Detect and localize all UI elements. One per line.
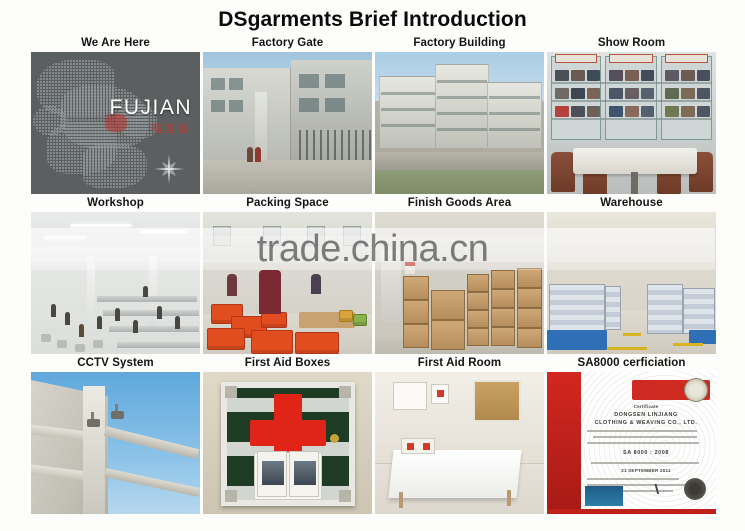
packing-crate — [339, 310, 353, 322]
certificate-standard: SA 8000 : 2008 — [587, 450, 705, 456]
merchandise — [555, 70, 569, 81]
red-cross-icon — [437, 390, 444, 397]
window — [229, 78, 243, 90]
certificate-heading: Certificate — [587, 404, 705, 409]
support-column — [381, 250, 401, 322]
window — [299, 74, 319, 88]
window-band — [489, 128, 540, 131]
worker-figure — [133, 320, 138, 333]
window-band — [381, 108, 435, 111]
map-province-label-cn: 福建省 — [151, 120, 191, 136]
carton — [517, 328, 542, 348]
window — [229, 100, 243, 112]
certificate-embossed-seal-icon — [684, 478, 706, 500]
frame-corner — [339, 386, 351, 398]
sewing-bench — [117, 342, 200, 348]
merchandise — [641, 88, 654, 99]
carton-label — [405, 262, 415, 274]
photo-caption: Finish Goods Area — [375, 196, 544, 212]
wall-poster — [393, 382, 427, 410]
gallery-cell-factory-gate[interactable]: Factory Gate — [203, 36, 372, 194]
poster-root: DSgarments Brief Introduction We Are Her… — [0, 0, 745, 531]
carton — [517, 288, 542, 308]
merchandise — [609, 88, 623, 99]
photo-caption: Workshop — [31, 196, 200, 212]
window-band — [437, 80, 487, 83]
photo-packing-space-red-crates[interactable] — [203, 212, 372, 354]
certificate-company-line-1: DONGSEN LINJIANG — [587, 412, 705, 418]
worker-figure — [143, 286, 148, 297]
window-band — [437, 96, 487, 99]
building-block — [435, 64, 489, 148]
merchandise — [571, 88, 585, 99]
gallery-cell-first-aid-room[interactable]: First Aid Room — [375, 356, 544, 514]
carton — [491, 327, 515, 346]
packing-crate — [261, 312, 287, 328]
packing-crate — [207, 328, 245, 350]
gallery-cell-factory-building[interactable]: Factory Building — [375, 36, 544, 194]
gallery-cell-we-are-here[interactable]: We Are Here FUJIAN 福建省 — [31, 36, 200, 194]
certificate-red-band — [547, 372, 581, 514]
carton — [431, 290, 465, 320]
packing-crate — [353, 314, 367, 326]
map-landmass-icon — [83, 144, 147, 188]
bed-leg — [507, 490, 511, 506]
medical-bed — [388, 450, 521, 498]
first-aid-kit — [401, 438, 435, 454]
fabric-bundle — [75, 344, 85, 352]
certificate-footer-band — [547, 509, 716, 514]
frame-corner — [339, 490, 351, 502]
carton — [491, 270, 515, 289]
notice-board — [473, 380, 521, 422]
goods-stack — [549, 284, 605, 336]
meeting-table — [573, 148, 697, 174]
merchandise — [641, 70, 654, 81]
merchandise — [625, 70, 639, 81]
fabric-bundle — [41, 334, 51, 342]
worker-figure — [259, 270, 281, 314]
photo-caption: CCTV System — [31, 356, 200, 372]
gallery-cell-show-room[interactable]: Show Room — [547, 36, 716, 194]
packing-crate — [295, 332, 339, 354]
goods-stack — [647, 284, 683, 334]
ceiling-lamp — [45, 236, 85, 239]
merchandise — [587, 106, 600, 117]
worker-figure — [311, 274, 321, 294]
cctv-camera-icon — [111, 411, 124, 419]
id-photo — [262, 461, 284, 485]
lock-icon[interactable] — [330, 434, 339, 443]
certificate-signature — [642, 484, 672, 494]
photo-caption: SA8000 cerficiation — [547, 356, 716, 372]
window — [211, 78, 225, 90]
gallery-cell-warehouse[interactable]: Warehouse — [547, 196, 716, 354]
building-pier — [83, 386, 105, 514]
carton — [467, 274, 489, 292]
gallery-cell-workshop[interactable]: Workshop — [31, 196, 200, 354]
ceiling-lamp — [71, 224, 131, 227]
window — [211, 100, 225, 112]
photo-first-aid-box-cabinet[interactable] — [203, 372, 372, 514]
window — [263, 226, 281, 246]
merchandise — [609, 70, 623, 81]
packing-crate — [251, 330, 293, 354]
merchandise — [587, 88, 600, 99]
sewing-bench — [109, 326, 199, 332]
merchandise — [681, 106, 695, 117]
merchandise — [571, 106, 585, 117]
person-figure — [247, 147, 253, 162]
photo-factory-building-exterior[interactable] — [375, 52, 544, 194]
first-aid-cabinet — [221, 382, 355, 506]
photo-caption: First Aid Room — [375, 356, 544, 372]
merchandise — [665, 88, 679, 99]
rack-signboard — [609, 54, 653, 63]
fabric-bundle — [57, 340, 67, 348]
carton — [467, 310, 489, 328]
carton — [517, 268, 542, 288]
certificate-body-line — [593, 436, 697, 438]
merchandise — [625, 106, 639, 117]
road — [375, 152, 544, 170]
window-band — [489, 96, 540, 99]
photo-workshop-sewing-floor[interactable] — [31, 212, 200, 354]
ground-pavement — [203, 160, 372, 194]
merchandise — [555, 88, 569, 99]
window — [325, 74, 345, 88]
window-band — [437, 128, 487, 131]
certificate-logo — [585, 486, 623, 506]
merchandise — [555, 106, 569, 117]
merchandise — [681, 88, 695, 99]
merchandise — [625, 88, 639, 99]
window-band — [381, 124, 435, 127]
window — [325, 98, 345, 112]
gallery-cell-first-aid-boxes[interactable]: First Aid Boxes — [203, 356, 372, 514]
photo-caption: Factory Building — [375, 36, 544, 52]
merchandise — [665, 70, 679, 81]
fabric-bundle — [93, 340, 103, 348]
map-landmass-icon — [33, 106, 67, 136]
goods-stack — [683, 288, 715, 334]
gallery-cell-cctv-system[interactable]: CCTV System — [31, 356, 200, 514]
building-beam — [104, 426, 200, 459]
merchandise — [697, 106, 710, 117]
floor-lane-marking — [673, 343, 703, 346]
worker-figure — [65, 312, 70, 325]
worker-figure — [227, 274, 237, 296]
red-cross-icon — [407, 443, 414, 450]
id-card — [257, 451, 287, 497]
photo-grid-row: CCTV System First Aid Boxes — [31, 356, 715, 514]
photo-factory-gate-exterior[interactable] — [203, 52, 372, 194]
photo-caption: Packing Space — [203, 196, 372, 212]
pallet-base — [547, 330, 607, 350]
frame-corner — [225, 386, 237, 398]
merchandise — [697, 88, 710, 99]
person-figure — [255, 147, 261, 162]
certificate-body-line — [587, 430, 697, 432]
photo-caption: Warehouse — [547, 196, 716, 212]
merchandise — [641, 106, 654, 117]
shelf-line — [551, 82, 712, 84]
worker-figure — [115, 308, 120, 321]
table-stem — [631, 172, 638, 194]
merchandise — [697, 70, 710, 81]
camera-bracket — [91, 412, 94, 419]
merchandise — [681, 70, 695, 81]
photo-caption: We Are Here — [31, 36, 200, 52]
compass-rose-icon — [154, 154, 184, 184]
window — [299, 98, 319, 112]
photo-showroom-display-racks[interactable] — [547, 52, 716, 194]
ceiling — [31, 212, 200, 246]
certificate-company-line-2: CLOTHING & WEAVING CO., LTD. — [587, 420, 705, 426]
gate-fence — [299, 130, 372, 164]
building-beam — [104, 468, 200, 497]
support-column — [87, 256, 95, 336]
carton — [467, 328, 489, 346]
worker-figure — [51, 304, 56, 317]
shelf-line — [551, 100, 712, 102]
gallery-cell-finish-goods-area[interactable]: Finish Goods Area — [375, 196, 544, 354]
merchandise — [587, 70, 600, 81]
photo-first-aid-room-bed[interactable] — [375, 372, 544, 514]
building-block — [379, 76, 437, 148]
photo-grid-row: Workshop — [31, 196, 715, 354]
carton — [491, 308, 515, 327]
id-card — [289, 451, 319, 497]
id-photo — [294, 461, 316, 485]
photo-grid: We Are Here FUJIAN 福建省 Factory Gate — [31, 36, 715, 516]
red-cross-icon — [423, 443, 430, 450]
window-band — [489, 112, 540, 115]
carton — [467, 292, 489, 310]
window — [307, 226, 325, 246]
photo-sa8000-certificate[interactable]: Certificate DONGSEN LINJIANG CLOTHING & … — [547, 372, 716, 514]
window — [343, 226, 361, 246]
rack-signboard — [665, 54, 708, 63]
photo-grid-row: We Are Here FUJIAN 福建省 Factory Gate — [31, 36, 715, 194]
carton — [403, 300, 429, 324]
cctv-camera-icon — [87, 419, 100, 427]
carton — [517, 308, 542, 328]
pallet-base — [689, 330, 716, 344]
worker-figure — [97, 316, 102, 329]
merchandise — [571, 70, 585, 81]
certificate-date: 21 SEPTEMBER 2011 — [587, 468, 705, 473]
photo-china-map-fujian-location[interactable]: FUJIAN 福建省 — [31, 52, 200, 194]
carton — [431, 320, 465, 350]
rack-signboard — [555, 54, 597, 63]
window-band — [381, 92, 435, 95]
carton — [491, 289, 515, 308]
gallery-cell-packing-space[interactable]: Packing Space — [203, 196, 372, 354]
merchandise — [665, 106, 679, 117]
chair — [551, 152, 575, 192]
worker-figure — [79, 324, 84, 337]
floor-lane-marking — [623, 333, 641, 336]
ceiling — [547, 212, 716, 250]
certificate-body-line — [591, 462, 699, 464]
page-title: DSgarments Brief Introduction — [0, 8, 745, 32]
shelf-line — [551, 118, 712, 120]
carton — [403, 324, 429, 348]
bed-leg — [399, 492, 403, 508]
photo-caption: Show Room — [547, 36, 716, 52]
camera-bracket — [115, 404, 118, 411]
goods-stack — [605, 286, 621, 330]
red-cross-poster — [431, 384, 449, 404]
red-cross-icon — [250, 420, 326, 446]
photo-warehouse-stacked-bags[interactable] — [547, 212, 716, 354]
photo-finished-goods-cartons[interactable] — [375, 212, 544, 354]
map-province-label: FUJIAN — [110, 96, 193, 120]
certificate-body-line — [587, 442, 699, 444]
merchandise — [609, 106, 623, 117]
ceiling-lamp — [141, 230, 187, 233]
worker-figure — [175, 316, 180, 329]
photo-caption: First Aid Boxes — [203, 356, 372, 372]
gallery-cell-sa8000-certificate[interactable]: SA8000 cerficiation Certificate DONGSEN … — [547, 356, 716, 514]
photo-cctv-cameras-building[interactable] — [31, 372, 200, 514]
floor-lane-marking — [607, 347, 647, 350]
frame-corner — [225, 490, 237, 502]
certification-body-seal-icon — [684, 378, 708, 402]
certificate-body-line — [587, 478, 679, 480]
window — [213, 226, 231, 246]
id-card-sheet — [254, 452, 322, 500]
carton — [403, 276, 429, 300]
window-band — [437, 112, 487, 115]
photo-caption: Factory Gate — [203, 36, 372, 52]
building-block — [487, 82, 542, 148]
worker-figure — [157, 306, 162, 319]
